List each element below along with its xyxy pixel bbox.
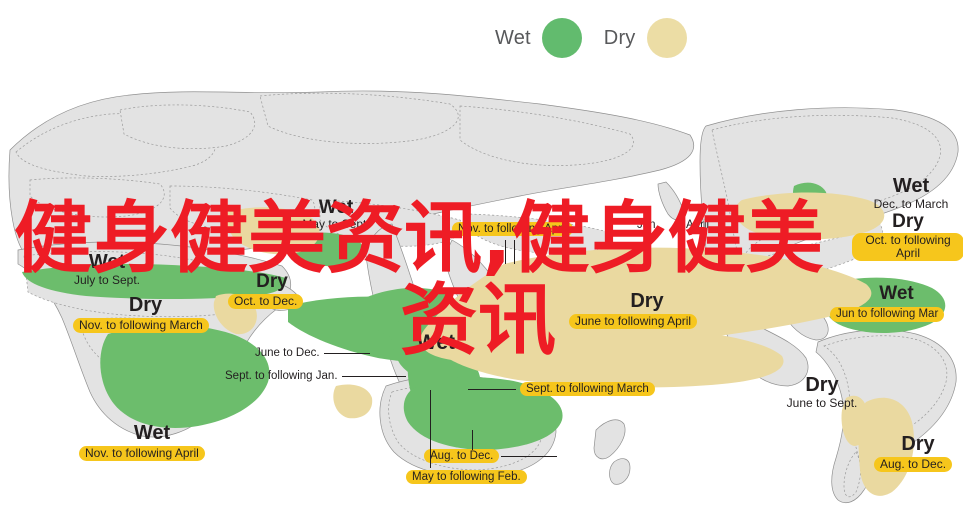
leader-line bbox=[501, 456, 557, 457]
annotation-season: Wet bbox=[400, 332, 472, 354]
leader-line-vertical bbox=[472, 430, 473, 450]
annotation-season: Dry bbox=[772, 375, 872, 396]
callout-north-pacific: Nov. to following April bbox=[452, 222, 573, 236]
annotation-central-africa: Dry Nov. to following March bbox=[73, 295, 218, 334]
annotation-southern-africa: Wet Nov. to following April bbox=[79, 423, 225, 462]
annotation-months: July to Sept. bbox=[62, 274, 152, 287]
legend-item-wet: Wet bbox=[495, 18, 582, 58]
annotation-season: Dry bbox=[228, 272, 316, 292]
callout-southeast-australia: Aug. to Dec. bbox=[424, 449, 557, 463]
leader-line bbox=[468, 389, 516, 390]
annotation-argentina: Dry Aug. to Dec. bbox=[874, 434, 962, 473]
wet-circle-icon bbox=[542, 18, 582, 58]
dry-circle-icon bbox=[647, 18, 687, 58]
annotation-season: Dry bbox=[569, 291, 725, 312]
leader-line bbox=[324, 353, 370, 354]
callout-text: Nov. to following April bbox=[452, 222, 573, 236]
callout-southern-australia: May to following Feb. bbox=[406, 470, 527, 484]
annotation-south-asia: Wet May to Sept. bbox=[290, 198, 382, 231]
annotation-months: June to following April bbox=[569, 314, 697, 329]
annotation-horn-of-africa: Dry Oct. to Dec. bbox=[228, 272, 316, 310]
annotation-northwest-north-america: Wet Dec. to March bbox=[861, 176, 961, 211]
legend-label-wet: Wet bbox=[495, 27, 531, 50]
callout-text: Jan. bbox=[637, 219, 659, 231]
callout-text: Aug. to Dec. bbox=[424, 449, 499, 463]
leader-line-vertical bbox=[505, 240, 506, 264]
leader-line bbox=[342, 376, 406, 377]
annotation-southwest-north-america: Dry Oct. to following April bbox=[852, 212, 963, 262]
callout-text: May to following Feb. bbox=[406, 470, 527, 484]
legend: Wet Dry bbox=[495, 18, 687, 58]
callout-mid-pacific-april: April bbox=[686, 219, 709, 231]
leader-line-vertical bbox=[430, 390, 431, 468]
annotation-months: June to Sept. bbox=[772, 397, 872, 410]
annotation-months: Dec. to March bbox=[861, 198, 961, 211]
leader-line-vertical bbox=[514, 240, 515, 264]
annotation-months: May to Sept. bbox=[290, 218, 382, 231]
annotation-southeast-asia: Wet bbox=[400, 332, 472, 354]
annotation-season: Wet bbox=[861, 176, 961, 197]
annotation-months: Aug. to Dec. bbox=[874, 457, 952, 472]
annotation-central-chile: Dry June to Sept. bbox=[772, 375, 872, 410]
annotation-season: Wet bbox=[290, 198, 382, 218]
annotation-months: Nov. to following March bbox=[73, 318, 209, 333]
callout-text: Sept. to following Jan. bbox=[225, 370, 338, 382]
legend-label-dry: Dry bbox=[604, 27, 636, 50]
callout-arabian-sea: June to Dec. bbox=[255, 347, 370, 359]
annotation-season: Dry bbox=[874, 434, 962, 455]
annotation-months: Oct. to following April bbox=[852, 233, 963, 261]
annotation-months: Oct. to Dec. bbox=[228, 294, 303, 309]
annotation-season: Wet bbox=[830, 284, 963, 304]
callout-text: June to Dec. bbox=[255, 347, 320, 359]
world-seasonal-rainfall-map: .land{fill:#e3e3e3;stroke:#9a9a9a;stroke… bbox=[0, 0, 963, 507]
legend-item-dry: Dry bbox=[604, 18, 687, 58]
callout-text: Sept. to following March bbox=[520, 382, 655, 396]
callout-text: April bbox=[686, 219, 709, 231]
callout-indonesia: Sept. to following March bbox=[468, 382, 655, 396]
annotation-equatorial-pacific: Dry June to following April bbox=[569, 291, 725, 330]
callout-mid-pacific-jan: Jan. bbox=[637, 219, 659, 231]
annotation-season: Dry bbox=[73, 295, 218, 316]
annotation-months: Nov. to following April bbox=[79, 446, 205, 461]
annotation-caribbean: Wet Jun to following Mar bbox=[830, 284, 963, 322]
annotation-season: Wet bbox=[79, 423, 225, 444]
annotation-season: Wet bbox=[62, 252, 152, 273]
annotation-sahel-west-africa: Wet July to Sept. bbox=[62, 252, 152, 287]
annotation-months: Jun to following Mar bbox=[830, 307, 944, 322]
callout-bay-of-bengal: Sept. to following Jan. bbox=[225, 370, 406, 382]
annotation-season: Dry bbox=[852, 212, 963, 232]
